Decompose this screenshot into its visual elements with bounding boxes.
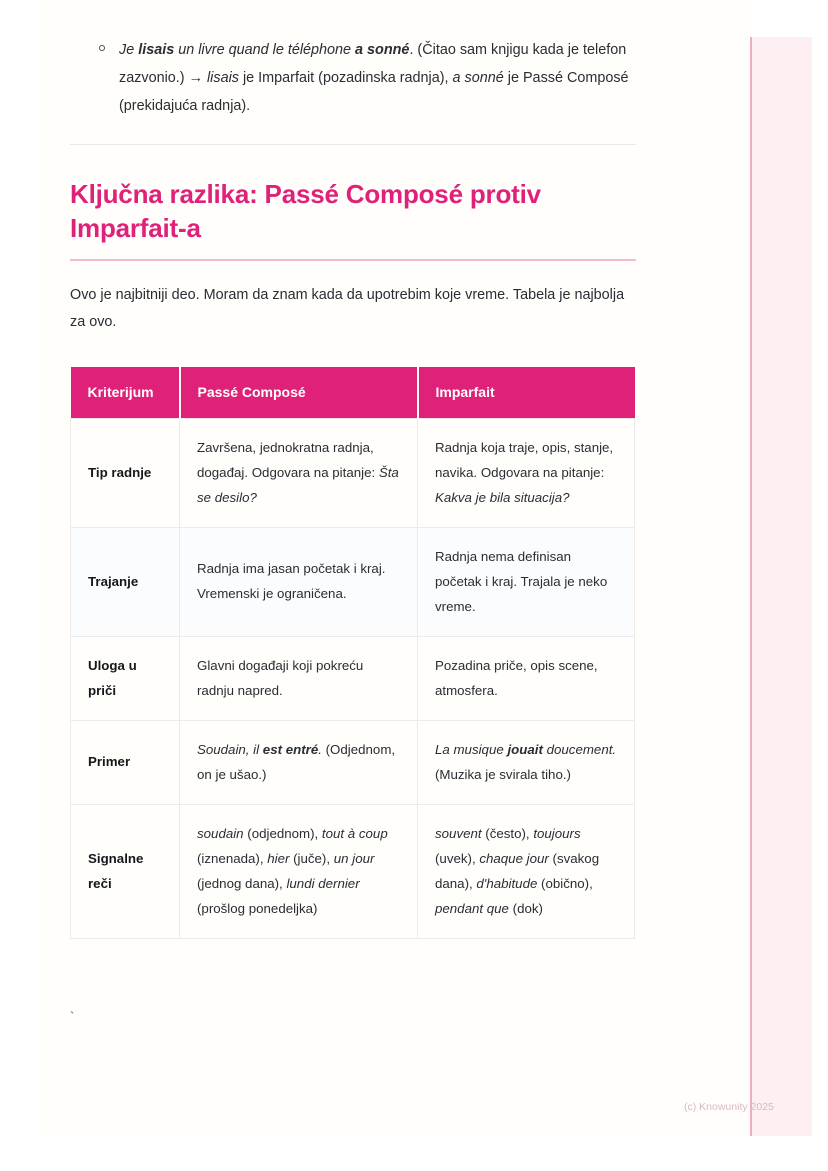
signal-gloss: (iznenada), — [197, 851, 267, 866]
table-row: Trajanje Radnja ima jasan početak i kraj… — [71, 527, 635, 636]
signal-gloss: (juče), — [289, 851, 333, 866]
table-row: Uloga u priči Glavni događaji koji pokre… — [71, 636, 635, 720]
row-criterion: Signalne reči — [71, 804, 180, 938]
cell-italic: Kakva je bila situacija? — [435, 490, 570, 505]
circle-bullet-icon — [99, 45, 105, 51]
signal-gloss: (dok) — [509, 901, 543, 916]
signal-term: hier — [267, 851, 289, 866]
signal-gloss: (često), — [482, 826, 534, 841]
row-criterion: Tip radnje — [71, 418, 180, 527]
footer-copyright: (c) Knowunity 2025 — [684, 1101, 774, 1113]
row-imparfait: Pozadina priče, opis scene, atmosfera. — [418, 636, 635, 720]
column-header-passe-compose: Passé Composé — [180, 367, 418, 419]
signal-gloss: (jednog dana), — [197, 876, 286, 891]
row-criterion: Trajanje — [71, 527, 180, 636]
signal-term: d'habitude — [476, 876, 537, 891]
signal-gloss: (uvek), — [435, 851, 479, 866]
signal-term: chaque jour — [479, 851, 549, 866]
signal-gloss: (prošlog ponedeljka) — [197, 901, 317, 916]
bullet-seg-8: a sonné — [453, 70, 504, 86]
cell-plain: Pozadina priče, opis scene, atmosfera. — [435, 658, 598, 698]
bullet-seg-6: lisais — [207, 70, 239, 86]
page-right-stripe — [752, 37, 812, 1136]
signal-term: lundi dernier — [286, 876, 359, 891]
example-italic-lead: La musique — [435, 742, 507, 757]
example-bullet-list: Je lisais un livre quand le téléphone a … — [70, 0, 636, 120]
row-imparfait: Radnja koja traje, opis, stanje, navika.… — [418, 418, 635, 527]
signal-term: souvent — [435, 826, 482, 841]
bullet-seg-3: un livre quand le téléphone — [174, 42, 355, 58]
table-row: Tip radnje Završena, jednokratna radnja,… — [71, 418, 635, 527]
stray-backtick: ` — [70, 1010, 74, 1024]
cell-plain: Radnja koja traje, opis, stanje, navika.… — [435, 440, 613, 480]
table-row: Signalne reči soudain (odjednom), tout à… — [71, 804, 635, 938]
row-passe-compose: Glavni događaji koji pokreću radnju napr… — [180, 636, 418, 720]
row-imparfait: Radnja nema definisan početak i kraj. Tr… — [418, 527, 635, 636]
cell-plain: Radnja ima jasan početak i kraj. Vremens… — [197, 561, 385, 601]
comparison-table: Kriterijum Passé Composé Imparfait Tip r… — [70, 367, 635, 939]
intro-paragraph: Ovo je najbitniji deo. Moram da znam kad… — [70, 261, 636, 336]
page-title: Ključna razlika: Passé Composé protiv Im… — [70, 145, 636, 245]
row-criterion: Primer — [71, 720, 180, 804]
row-imparfait-signals: souvent (često), toujours (uvek), chaque… — [418, 804, 635, 938]
row-imparfait: La musique jouait doucement. (Muzika je … — [418, 720, 635, 804]
signal-term: pendant que — [435, 901, 509, 916]
signal-term: tout à coup — [322, 826, 388, 841]
example-italic-tail: doucement. — [543, 742, 616, 757]
row-passe-compose-signals: soudain (odjednom), tout à coup (iznenad… — [180, 804, 418, 938]
bullet-seg-1: Je — [119, 42, 138, 58]
row-criterion: Uloga u priči — [71, 636, 180, 720]
table-row: Primer Soudain, il est entré. (Odjednom,… — [71, 720, 635, 804]
signal-gloss: (obično), — [537, 876, 592, 891]
document-content: Je lisais un livre quand le téléphone a … — [70, 0, 636, 939]
cell-plain: Radnja nema definisan početak i kraj. Tr… — [435, 549, 607, 614]
table-header-row: Kriterijum Passé Composé Imparfait — [71, 367, 635, 419]
example-translation: (Muzika je svirala tiho.) — [435, 767, 571, 782]
cell-plain: Glavni događaji koji pokreću radnju napr… — [197, 658, 363, 698]
example-bold-verb: est entré — [263, 742, 318, 757]
column-header-imparfait: Imparfait — [418, 367, 635, 419]
cell-plain: Završena, jednokratna radnja, događaj. O… — [197, 440, 379, 480]
comparison-table-wrapper: Kriterijum Passé Composé Imparfait Tip r… — [70, 336, 636, 939]
example-bold-verb: jouait — [507, 742, 542, 757]
signal-term: toujours — [533, 826, 580, 841]
bullet-seg-2: lisais — [138, 42, 174, 58]
row-passe-compose: Radnja ima jasan početak i kraj. Vremens… — [180, 527, 418, 636]
signal-term: un jour — [334, 851, 375, 866]
bullet-seg-7: je Imparfait (pozadinska radnja), — [239, 70, 453, 86]
signal-term: soudain — [197, 826, 244, 841]
row-passe-compose: Soudain, il est entré. (Odjednom, on je … — [180, 720, 418, 804]
table-header: Kriterijum Passé Composé Imparfait — [71, 367, 635, 419]
signal-gloss: (odjednom), — [244, 826, 322, 841]
bullet-seg-4: a sonné — [355, 42, 409, 58]
list-item: Je lisais un livre quand le téléphone a … — [70, 36, 636, 120]
row-passe-compose: Završena, jednokratna radnja, događaj. O… — [180, 418, 418, 527]
example-italic-lead: Soudain, il — [197, 742, 263, 757]
table-body: Tip radnje Završena, jednokratna radnja,… — [71, 418, 635, 938]
column-header-kriterijum: Kriterijum — [71, 367, 180, 419]
